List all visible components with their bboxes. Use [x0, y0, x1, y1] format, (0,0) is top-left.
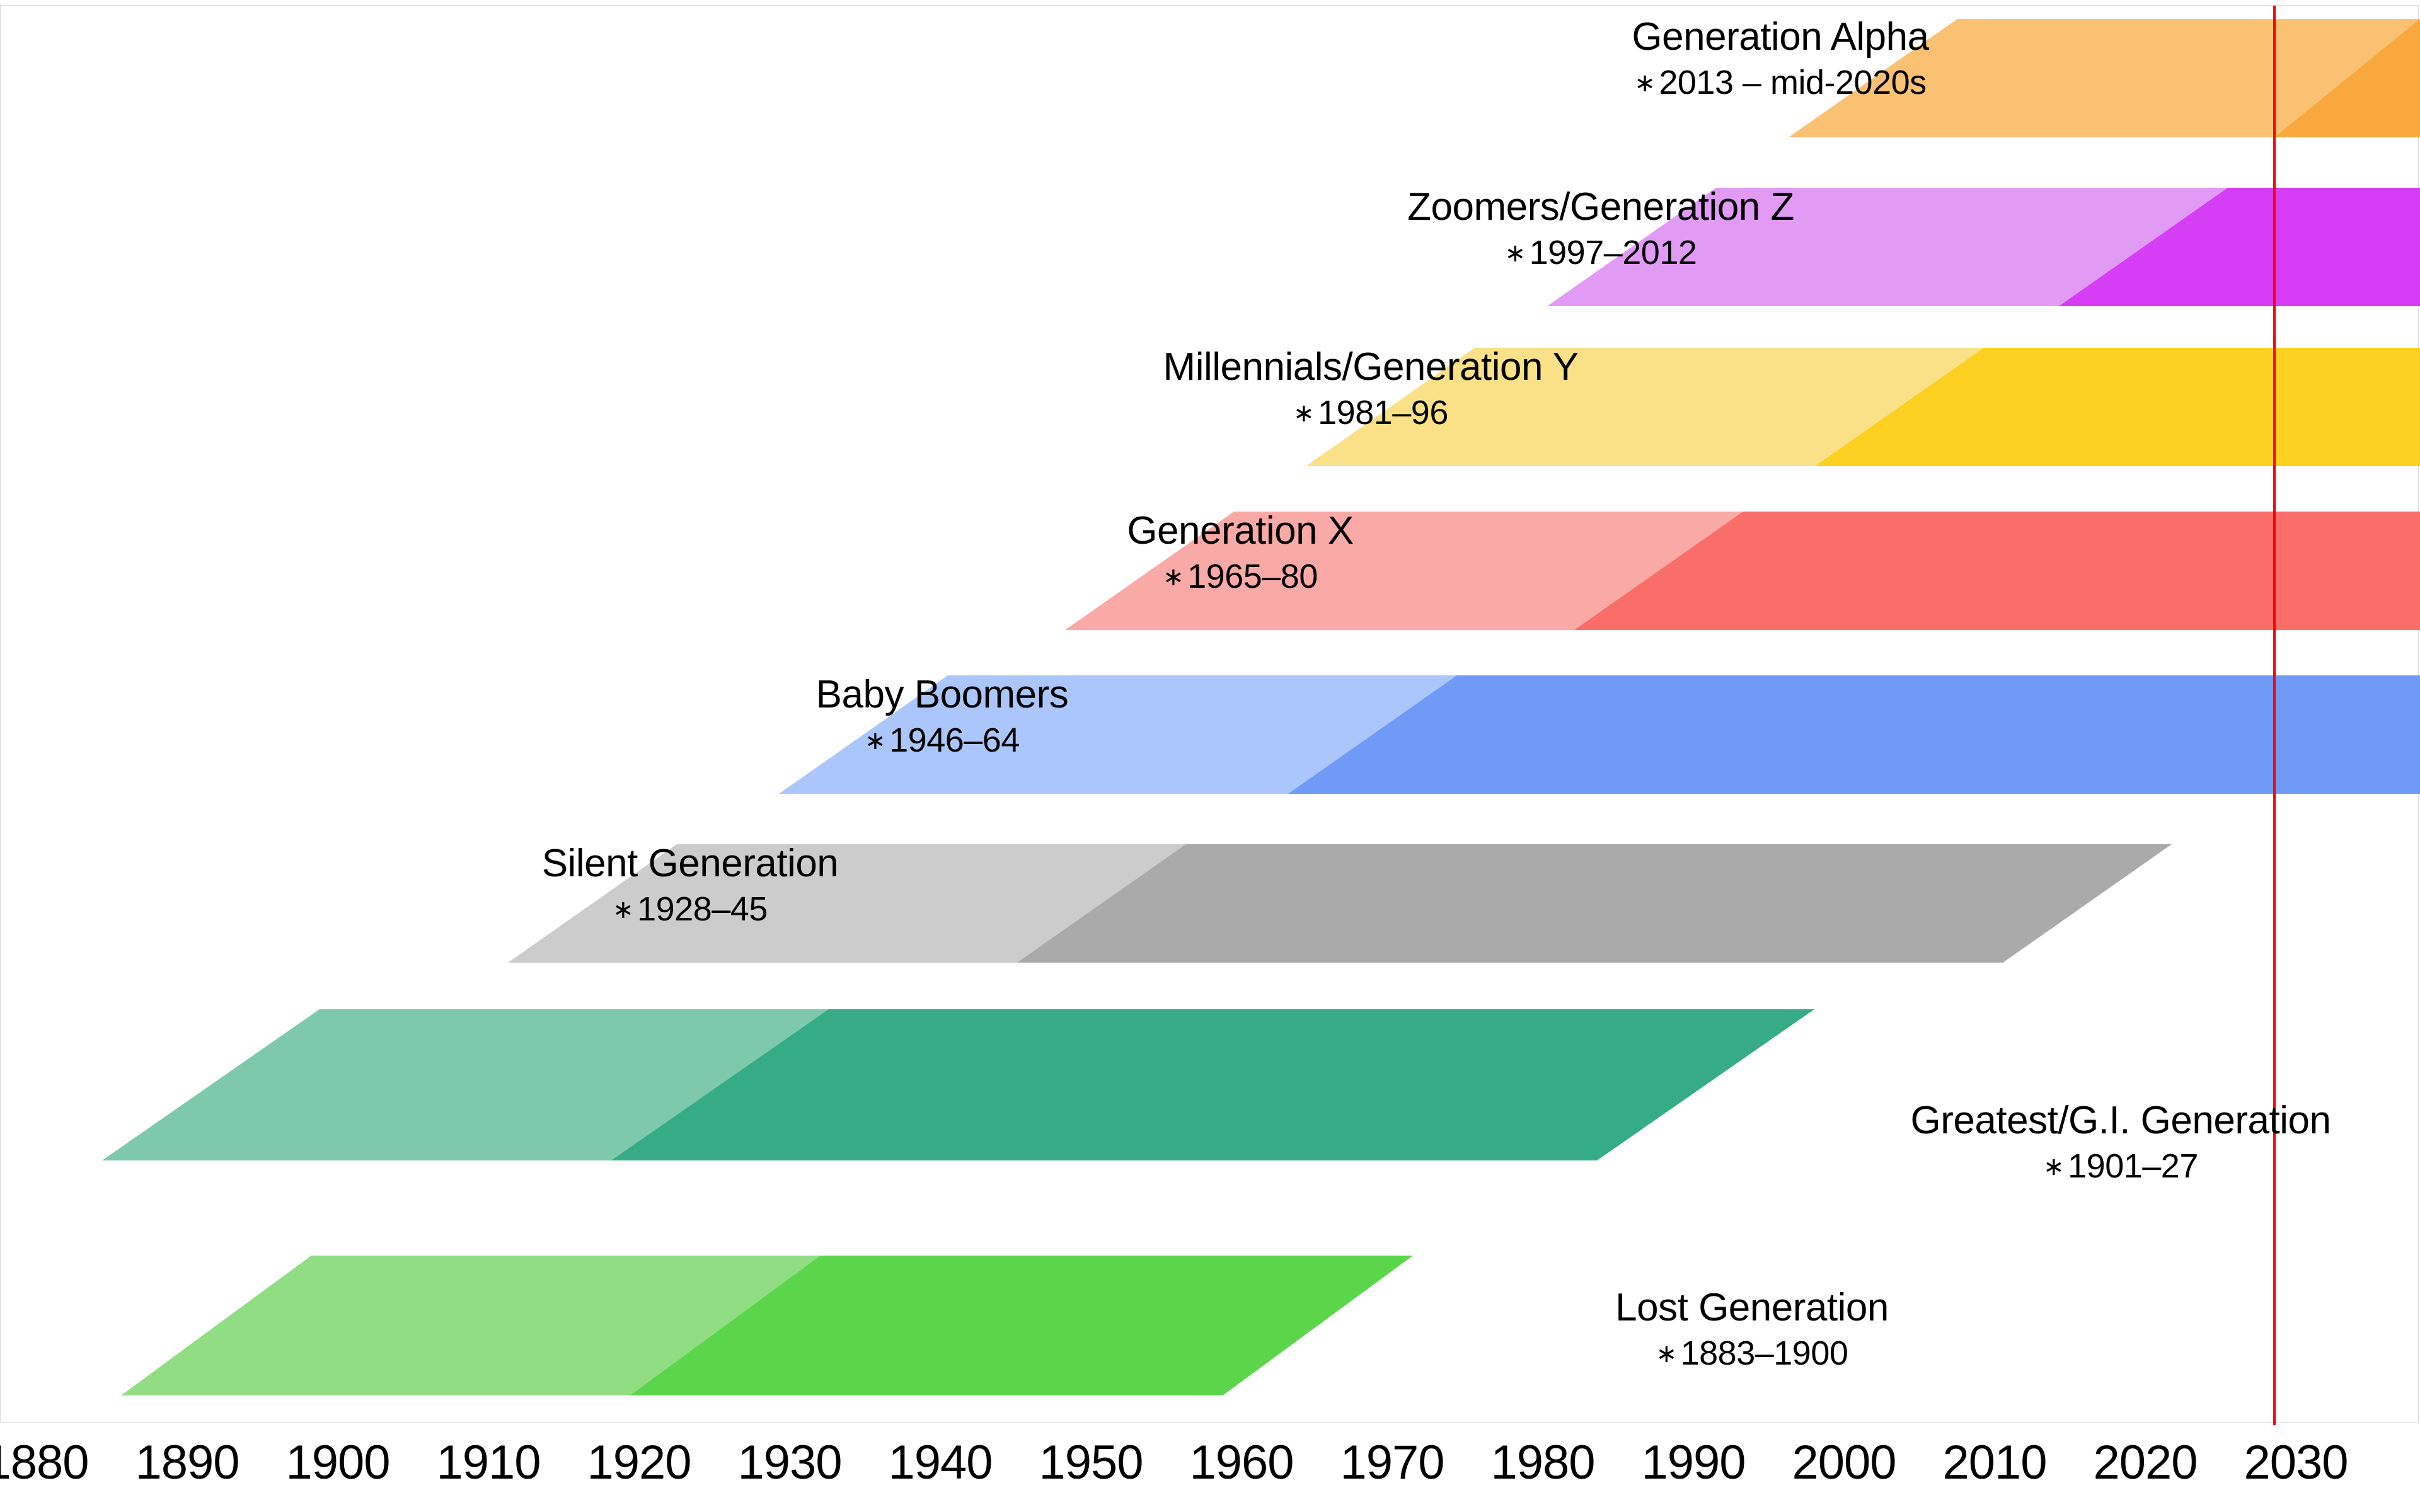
label-lost-generation-years: ∗1883–1900 — [1500, 1336, 2004, 1370]
x-axis-tick-2030: 2030 — [2244, 1435, 2348, 1490]
label-generation-x-years: ∗1965–80 — [1020, 559, 1461, 593]
label-lost-generation-name: Lost Generation — [1500, 1288, 2004, 1327]
x-axis-tick-2010: 2010 — [1942, 1435, 2046, 1490]
x-axis-tick-1950: 1950 — [1039, 1435, 1143, 1490]
x-axis-tick-1920: 1920 — [587, 1435, 691, 1490]
label-millennials-years: ∗1981–96 — [1034, 396, 1708, 430]
label-greatest-generation: Greatest/G.I. Generation∗1901–27 — [1802, 1101, 2420, 1183]
label-generation-x: Generation X∗1965–80 — [1020, 512, 1461, 593]
x-axis-tick-1980: 1980 — [1490, 1435, 1594, 1490]
generations-timeline-chart: Generation Alpha∗2013 – mid-2020sZoomers… — [0, 0, 2420, 1512]
birth-star-icon: ∗ — [1656, 1340, 1677, 1368]
label-millennials-name: Millennials/Generation Y — [1034, 348, 1708, 387]
generation-bands-layer — [0, 0, 2420, 1425]
x-axis-tick-1970: 1970 — [1340, 1435, 1444, 1490]
label-baby-boomers-name: Baby Boomers — [715, 675, 1169, 714]
label-millennials: Millennials/Generation Y∗1981–96 — [1034, 348, 1708, 430]
label-silent-generation-years: ∗1928–45 — [441, 892, 939, 926]
x-axis: 1880189019001910192019301940195019601970… — [0, 1423, 2420, 1512]
birth-star-icon: ∗ — [1634, 69, 1655, 97]
birth-star-icon: ∗ — [2043, 1153, 2064, 1181]
x-axis-tick-2000: 2000 — [1792, 1435, 1896, 1490]
birth-star-icon: ∗ — [1163, 563, 1184, 591]
x-axis-tick-1960: 1960 — [1189, 1435, 1293, 1490]
band-baby-boomers-dark — [1288, 675, 2420, 794]
band-silent-generation-dark — [1017, 844, 2172, 963]
label-generation-z-years: ∗1997–2012 — [1279, 236, 1922, 270]
label-generation-z: Zoomers/Generation Z∗1997–2012 — [1279, 188, 1922, 270]
birth-star-icon: ∗ — [1505, 239, 1526, 267]
birth-star-icon: ∗ — [865, 727, 885, 755]
label-generation-alpha-years: ∗2013 – mid-2020s — [1522, 66, 2039, 100]
label-baby-boomers-years: ∗1946–64 — [715, 723, 1169, 757]
label-generation-alpha: Generation Alpha∗2013 – mid-2020s — [1522, 18, 2039, 100]
label-baby-boomers: Baby Boomers∗1946–64 — [715, 675, 1169, 757]
birth-star-icon: ∗ — [1293, 399, 1314, 427]
label-silent-generation-name: Silent Generation — [441, 844, 939, 883]
x-axis-tick-1890: 1890 — [135, 1435, 239, 1490]
label-greatest-generation-name: Greatest/G.I. Generation — [1802, 1101, 2420, 1140]
x-axis-tick-1990: 1990 — [1641, 1435, 1745, 1490]
label-greatest-generation-years: ∗1901–27 — [1802, 1149, 2420, 1183]
label-generation-alpha-name: Generation Alpha — [1522, 18, 2039, 57]
label-lost-generation: Lost Generation∗1883–1900 — [1500, 1288, 2004, 1370]
x-axis-tick-2020: 2020 — [2093, 1435, 2197, 1490]
label-silent-generation: Silent Generation∗1928–45 — [441, 844, 939, 926]
x-axis-tick-1930: 1930 — [737, 1435, 841, 1490]
label-generation-z-name: Zoomers/Generation Z — [1279, 188, 1922, 227]
x-axis-tick-1940: 1940 — [888, 1435, 992, 1490]
label-generation-x-name: Generation X — [1020, 512, 1461, 551]
birth-star-icon: ∗ — [613, 896, 633, 924]
x-axis-tick-1900: 1900 — [285, 1435, 389, 1490]
x-axis-tick-1910: 1910 — [436, 1435, 540, 1490]
x-axis-tick-1880: 1880 — [0, 1435, 89, 1490]
